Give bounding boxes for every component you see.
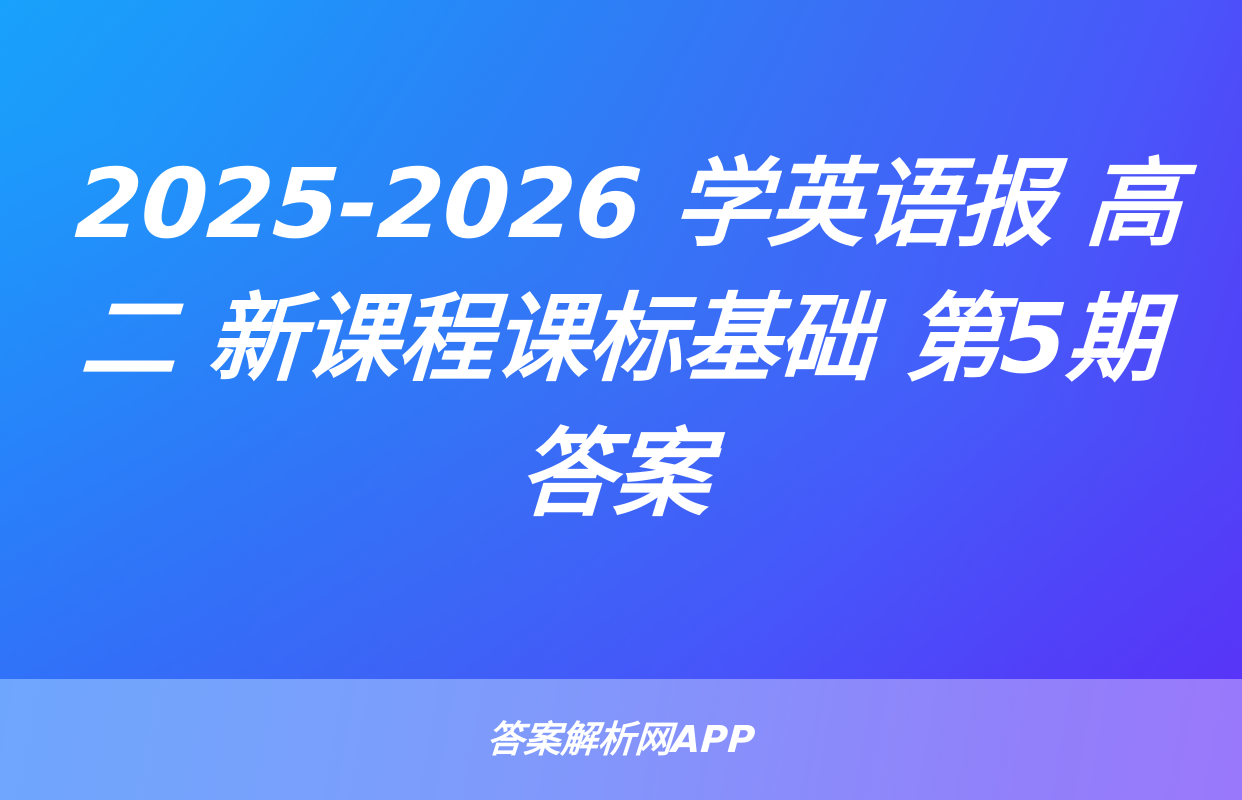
page-title: 2025-2026 学英语报 高二 新课程课标基础 第5期答案 [45,137,1196,542]
title-block: 2025-2026 学英语报 高二 新课程课标基础 第5期答案 [0,0,1242,679]
app-watermark-label: 答案解析网APP [486,721,756,758]
footer-watermark-band: 答案解析网APP [0,679,1242,800]
answer-poster: 2025-2026 学英语报 高二 新课程课标基础 第5期答案 答案解析网APP [0,0,1242,800]
